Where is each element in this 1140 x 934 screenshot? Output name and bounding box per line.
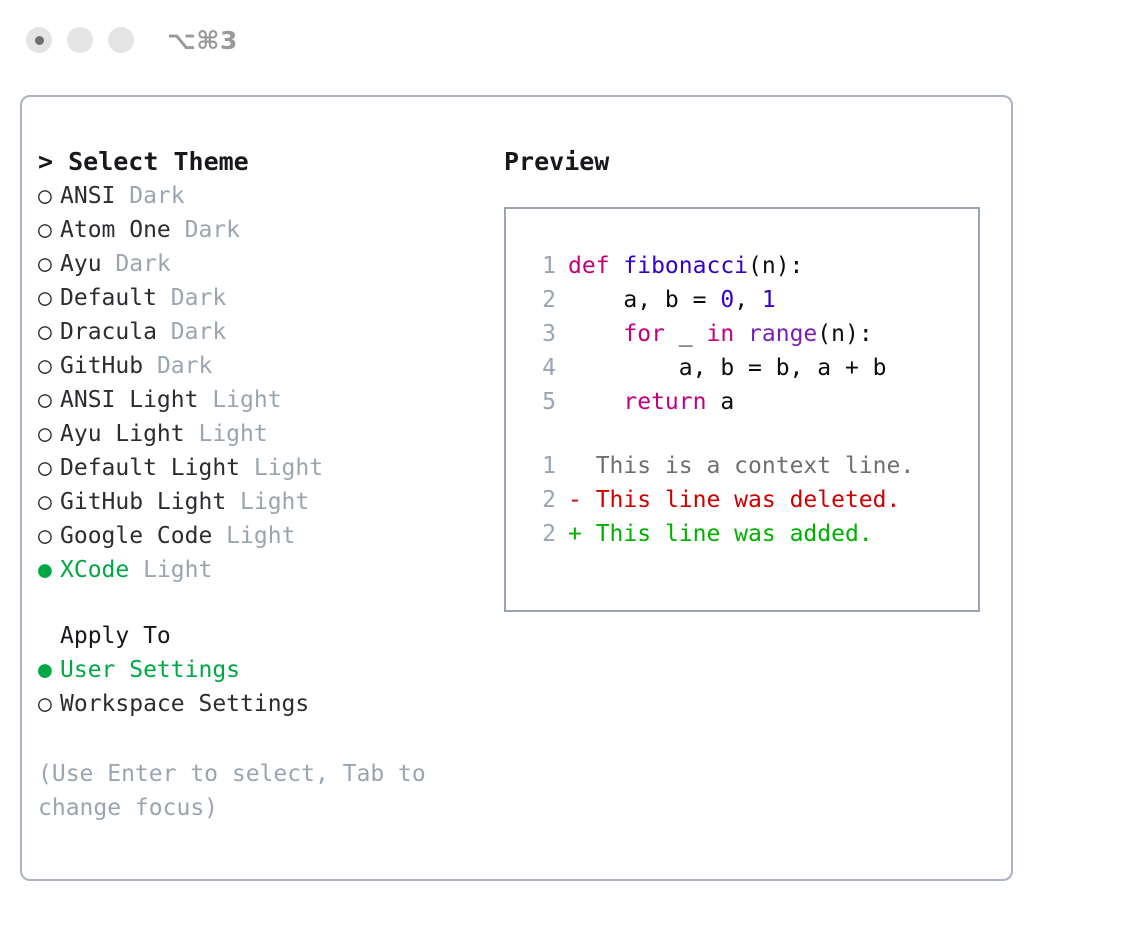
- window-dot-active-inner: [35, 36, 44, 45]
- code-token: fibonacci: [623, 253, 748, 279]
- radio-unselected-icon: ○: [38, 687, 60, 721]
- theme-list-item[interactable]: ○ANSI Dark: [38, 179, 468, 213]
- select-theme-heading: > Select Theme: [38, 145, 468, 179]
- diff-marker: +: [568, 517, 596, 551]
- code-content: return a: [568, 385, 734, 419]
- app-window: ⌥⌘3 > Select Theme ○ANSI Dark○Atom One D…: [0, 0, 1140, 934]
- code-token: [734, 321, 748, 347]
- code-token: [568, 389, 623, 415]
- theme-kind-badge: Light: [129, 553, 212, 587]
- apply-to-option[interactable]: ●User Settings: [38, 653, 468, 687]
- window-dot-third[interactable]: [108, 27, 134, 53]
- line-number: 2: [526, 517, 556, 551]
- radio-unselected-icon: ○: [38, 315, 60, 349]
- code-line: 5 return a: [526, 385, 978, 419]
- code-token: a, b = b, a + b: [568, 355, 887, 381]
- radio-unselected-icon: ○: [38, 519, 60, 553]
- theme-list-item[interactable]: ○GitHub Dark: [38, 349, 468, 383]
- code-token: [568, 321, 623, 347]
- diff-line: 2- This line was deleted.: [526, 483, 978, 517]
- diff-text: This line was added.: [596, 517, 873, 551]
- theme-name: GitHub Light: [60, 485, 226, 519]
- radio-unselected-icon: ○: [38, 213, 60, 247]
- theme-kind-badge: Light: [198, 383, 281, 417]
- diff-text: This line was deleted.: [596, 483, 901, 517]
- code-token: def: [568, 253, 623, 279]
- keyboard-hint: (Use Enter to select, Tab to change focu…: [38, 757, 438, 825]
- radio-unselected-icon: ○: [38, 417, 60, 451]
- theme-kind-badge: Light: [185, 417, 268, 451]
- code-content: a, b = 0, 1: [568, 283, 776, 317]
- radio-unselected-icon: ○: [38, 179, 60, 213]
- theme-name: ANSI Light: [60, 383, 198, 417]
- theme-list-item[interactable]: ○Ayu Dark: [38, 247, 468, 281]
- code-line: 1def fibonacci(n):: [526, 249, 978, 283]
- theme-list-item[interactable]: ○Ayu Light Light: [38, 417, 468, 451]
- code-token: 1: [762, 287, 776, 313]
- code-token: a: [706, 389, 734, 415]
- code-sample: 1def fibonacci(n):2 a, b = 0, 13 for _ i…: [526, 249, 978, 419]
- apply-to-heading: Apply To: [38, 619, 468, 653]
- code-token: a, b =: [568, 287, 720, 313]
- code-line: 4 a, b = b, a + b: [526, 351, 978, 385]
- theme-kind-badge: Dark: [115, 179, 184, 213]
- radio-unselected-icon: ○: [38, 247, 60, 281]
- line-number: 4: [526, 351, 556, 385]
- code-token: return: [623, 389, 706, 415]
- preview-box: 1def fibonacci(n):2 a, b = 0, 13 for _ i…: [504, 207, 980, 612]
- window-dot-active[interactable]: [26, 27, 52, 53]
- theme-list-item[interactable]: ○Default Dark: [38, 281, 468, 315]
- code-token: (n):: [817, 321, 872, 347]
- keyboard-shortcut-label: ⌥⌘3: [167, 28, 238, 53]
- line-number: 2: [526, 483, 556, 517]
- diff-sample: 1 This is a context line.2- This line wa…: [526, 449, 978, 551]
- radio-selected-icon: ●: [38, 653, 60, 687]
- theme-kind-badge: Light: [240, 451, 323, 485]
- diff-marker: -: [568, 483, 596, 517]
- theme-name: XCode: [60, 553, 129, 587]
- theme-list-item[interactable]: ○Google Code Light: [38, 519, 468, 553]
- theme-list-item[interactable]: ○ANSI Light Light: [38, 383, 468, 417]
- code-token: range: [748, 321, 817, 347]
- theme-kind-badge: Light: [212, 519, 295, 553]
- apply-to-label: Workspace Settings: [60, 687, 309, 721]
- theme-selector-dialog: > Select Theme ○ANSI Dark○Atom One Dark○…: [20, 95, 1013, 881]
- radio-unselected-icon: ○: [38, 451, 60, 485]
- radio-unselected-icon: ○: [38, 485, 60, 519]
- theme-list-item[interactable]: ○GitHub Light Light: [38, 485, 468, 519]
- diff-marker: [568, 449, 596, 483]
- theme-list: ○ANSI Dark○Atom One Dark○Ayu Dark○Defaul…: [38, 179, 468, 587]
- theme-list-item[interactable]: ○Default Light Light: [38, 451, 468, 485]
- diff-line: 1 This is a context line.: [526, 449, 978, 483]
- preview-column: Preview 1def fibonacci(n):2 a, b = 0, 13…: [504, 145, 984, 612]
- window-titlebar: ⌥⌘3: [0, 0, 1140, 80]
- theme-name: GitHub: [60, 349, 143, 383]
- theme-list-item[interactable]: ●XCode Light: [38, 553, 468, 587]
- line-number: 2: [526, 283, 556, 317]
- radio-unselected-icon: ○: [38, 349, 60, 383]
- code-token: _: [665, 321, 707, 347]
- line-number: 1: [526, 249, 556, 283]
- line-number: 1: [526, 449, 556, 483]
- code-content: def fibonacci(n):: [568, 249, 803, 283]
- code-spacer: [526, 419, 978, 449]
- code-token: 0: [720, 287, 734, 313]
- theme-name: Ayu: [60, 247, 102, 281]
- radio-unselected-icon: ○: [38, 383, 60, 417]
- code-token: ,: [734, 287, 762, 313]
- theme-kind-badge: Dark: [171, 213, 240, 247]
- window-dot-second[interactable]: [67, 27, 93, 53]
- apply-to-list: ●User Settings○Workspace Settings: [38, 653, 468, 721]
- apply-to-option[interactable]: ○Workspace Settings: [38, 687, 468, 721]
- theme-name: ANSI: [60, 179, 115, 213]
- theme-name: Google Code: [60, 519, 212, 553]
- code-token: for: [623, 321, 665, 347]
- theme-name: Dracula: [60, 315, 157, 349]
- theme-list-item[interactable]: ○Dracula Dark: [38, 315, 468, 349]
- apply-to-label: User Settings: [60, 653, 240, 687]
- radio-unselected-icon: ○: [38, 281, 60, 315]
- preview-heading: Preview: [504, 145, 984, 179]
- code-line: 3 for _ in range(n):: [526, 317, 978, 351]
- spacer: [38, 587, 468, 619]
- theme-kind-badge: Dark: [102, 247, 171, 281]
- code-content: a, b = b, a + b: [568, 351, 887, 385]
- theme-selection-column: > Select Theme ○ANSI Dark○Atom One Dark○…: [38, 145, 468, 825]
- theme-kind-badge: Dark: [143, 349, 212, 383]
- line-number: 3: [526, 317, 556, 351]
- theme-name: Ayu Light: [60, 417, 185, 451]
- line-number: 5: [526, 385, 556, 419]
- window-controls: [26, 27, 134, 53]
- theme-name: Default Light: [60, 451, 240, 485]
- theme-name: Default: [60, 281, 157, 315]
- diff-line: 2+ This line was added.: [526, 517, 978, 551]
- radio-selected-icon: ●: [38, 553, 60, 587]
- theme-kind-badge: Dark: [157, 315, 226, 349]
- diff-text: This is a context line.: [596, 449, 915, 483]
- code-token: in: [706, 321, 734, 347]
- code-line: 2 a, b = 0, 1: [526, 283, 978, 317]
- theme-kind-badge: Light: [226, 485, 309, 519]
- theme-name: Atom One: [60, 213, 171, 247]
- code-token: (n):: [748, 253, 803, 279]
- theme-kind-badge: Dark: [157, 281, 226, 315]
- code-content: for _ in range(n):: [568, 317, 873, 351]
- theme-list-item[interactable]: ○Atom One Dark: [38, 213, 468, 247]
